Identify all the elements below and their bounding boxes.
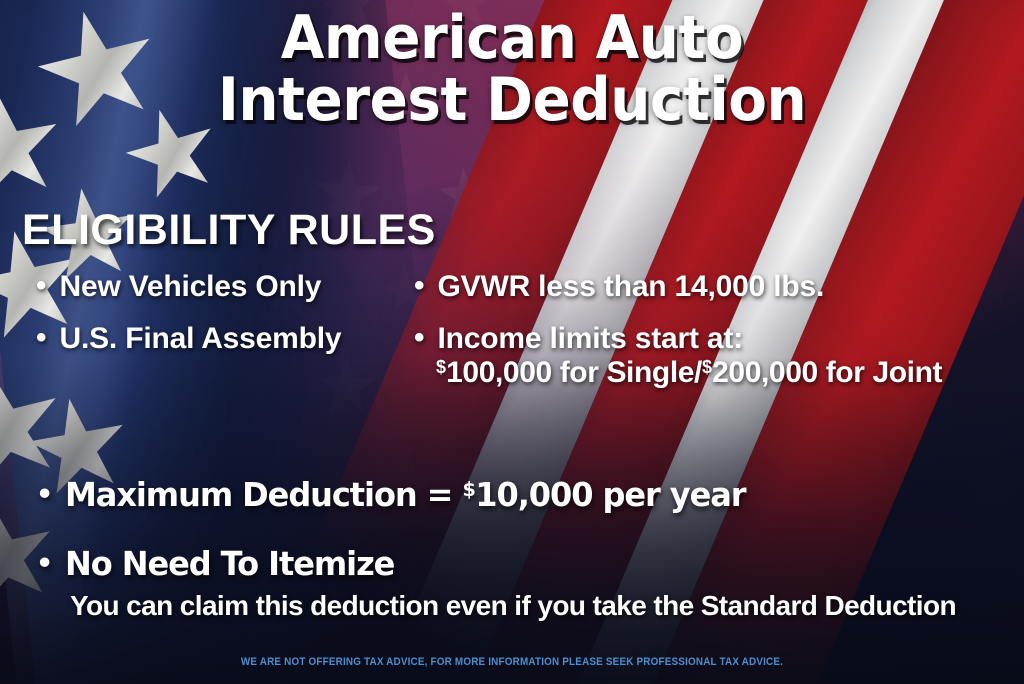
key-point-label: No Need To Itemize [65,547,394,580]
title-line-2: Interest Deduction [31,70,994,132]
key-point-suffix: per year [593,475,746,514]
dollar-sign-single: $ [436,357,446,377]
key-point-maximum-deduction: • Maximum Deduction = $10,000 per year [36,478,1008,511]
single-label: for Single/ [552,356,702,389]
list-item: • U.S. Final Assembly [36,324,400,354]
list-item-label: Income limits start at: [438,324,743,354]
joint-amount: 200,000 [712,356,818,389]
poster-content: American Auto Interest Deduction ELIGIBI… [0,0,1024,684]
list-item: • New Vehicles Only [36,272,400,302]
standard-deduction-note: You can claim this deduction even if you… [70,592,1012,620]
disclaimer-text: WE ARE NOT OFFERING TAX ADVICE, FOR MORE… [51,656,973,668]
income-limit-detail: $100,000 for Single/$200,000 for Joint [436,358,1010,388]
title-line-1: American Auto [31,8,994,70]
joint-label: for Joint [818,356,942,389]
key-points-list: • Maximum Deduction = $10,000 per year •… [36,478,1008,580]
key-point-amount: 10,000 [476,475,593,514]
key-point-no-need-to-itemize: • No Need To Itemize [36,547,1008,580]
bullet-dot-icon: • [414,271,425,301]
single-amount: 100,000 [446,356,552,389]
bullet-dot-icon: • [36,271,47,301]
eligibility-columns: • New Vehicles Only • U.S. Final Assembl… [0,272,1024,388]
eligibility-right-column: • GVWR less than 14,000 lbs. • Income li… [400,272,1024,388]
dollar-sign-joint: $ [702,357,712,377]
eligibility-left-column: • New Vehicles Only • U.S. Final Assembl… [0,272,400,388]
list-item-label: U.S. Final Assembly [60,324,342,354]
list-item: • Income limits start at: [414,324,1010,354]
bullet-dot-icon: • [36,550,53,577]
list-item: • GVWR less than 14,000 lbs. [414,272,1010,302]
dollar-sign-max: $ [463,478,475,501]
bullet-dot-icon: • [414,323,425,353]
page-title: American Auto Interest Deduction [0,8,1024,132]
list-item-label: GVWR less than 14,000 lbs. [438,272,825,302]
section-heading-eligibility: ELIGIBILITY RULES [22,206,436,255]
key-point-prefix: Maximum Deduction = [65,475,463,514]
key-point-label: Maximum Deduction = $10,000 per year [65,478,745,511]
bullet-dot-icon: • [36,323,47,353]
bullet-dot-icon: • [36,481,53,508]
poster-canvas: American Auto Interest Deduction ELIGIBI… [0,0,1024,684]
list-item-label: New Vehicles Only [60,272,322,302]
